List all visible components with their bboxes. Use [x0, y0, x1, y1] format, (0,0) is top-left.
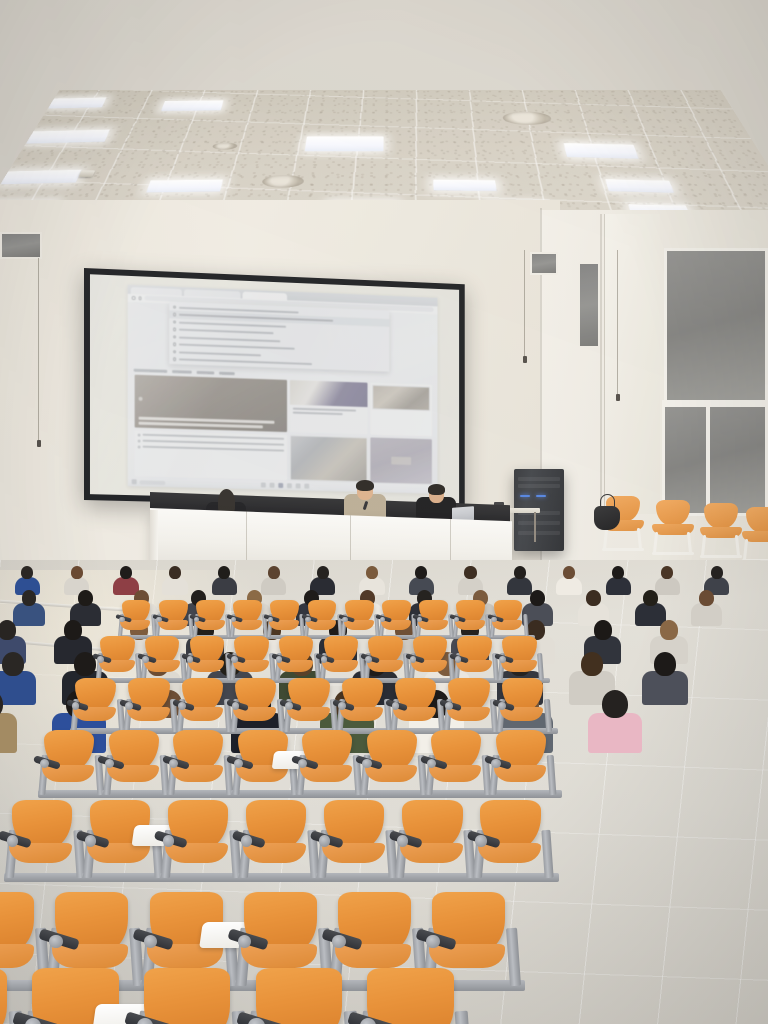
audience-person	[212, 566, 238, 596]
lecture-seat[interactable]	[4, 800, 92, 888]
source-avatar-icon	[138, 397, 142, 401]
seat-pivot-hinge	[410, 656, 416, 662]
app-icon[interactable]	[261, 483, 266, 488]
seat-pivot-hinge	[7, 835, 18, 846]
light-panel-3	[1, 170, 82, 185]
seat-cushion[interactable]	[456, 660, 492, 672]
seat-cushion[interactable]	[322, 660, 358, 672]
seat-cushion[interactable]	[344, 620, 374, 630]
wall-pillar	[604, 214, 660, 514]
stack-chair-leg	[637, 528, 642, 550]
light-panel-13	[563, 143, 638, 159]
seat-pivot-hinge	[305, 617, 310, 622]
audience-head	[581, 652, 603, 676]
light-panel-11	[433, 179, 497, 191]
rack-status-led	[520, 495, 530, 497]
audience-head	[514, 566, 526, 579]
stack-chair-foot-rail	[652, 552, 694, 555]
audience-torso	[212, 577, 237, 596]
taskbar-search-field[interactable]	[140, 480, 166, 485]
bag-strap	[600, 494, 615, 508]
seat-pivot-hinge	[445, 702, 453, 710]
seat-cushion[interactable]	[429, 765, 481, 782]
seat-cushion[interactable]	[165, 843, 228, 863]
light-panel-8	[305, 136, 384, 151]
audience-head	[711, 566, 723, 579]
video-caption	[290, 405, 367, 419]
audience-head	[563, 566, 575, 579]
projector-cable	[38, 258, 39, 444]
acoustic-panel-right-tall	[578, 262, 600, 348]
projector-cable-2	[617, 250, 618, 398]
seat-cushion[interactable]	[9, 843, 72, 863]
stack-chair-2	[652, 500, 698, 554]
reload-icon[interactable]	[138, 296, 141, 300]
video-article-card[interactable]	[290, 380, 367, 435]
projector-cable-3	[524, 250, 525, 360]
app-icon[interactable]	[295, 484, 300, 489]
lecture-seat[interactable]	[473, 800, 561, 888]
seat-pivot-hinge	[397, 835, 408, 846]
app-icon[interactable]	[269, 483, 274, 488]
seat-cushion[interactable]	[158, 620, 188, 630]
seat-support-post	[455, 1011, 472, 1024]
hero-article-card[interactable]	[134, 375, 287, 432]
seat-cushion[interactable]	[494, 765, 546, 782]
seat-cushion[interactable]	[241, 944, 317, 968]
seat-backrest[interactable]	[0, 968, 7, 1024]
lecture-seat[interactable]	[22, 968, 144, 1024]
audience-head	[415, 566, 427, 579]
seat-support-post	[542, 830, 554, 878]
seat-cushion[interactable]	[335, 944, 411, 968]
seat-pivot-hinge	[338, 702, 346, 710]
seat-backrest[interactable]	[256, 968, 342, 1024]
seat-cushion[interactable]	[277, 660, 313, 672]
seat-pivot-hinge	[49, 935, 63, 949]
seat-support-post	[544, 698, 552, 731]
seat-pivot-hinge	[499, 656, 505, 662]
audience-head	[602, 690, 628, 718]
seat-cushion[interactable]	[455, 620, 485, 630]
audience-head	[0, 620, 16, 640]
seat-cushion[interactable]	[306, 620, 336, 630]
seat-pivot-hinge	[319, 835, 330, 846]
seat-pivot-hinge	[231, 656, 237, 662]
audience-head	[464, 566, 476, 579]
card-thumbnail-image	[372, 385, 429, 412]
audience-person	[0, 690, 19, 754]
seat-pivot-hinge	[365, 656, 371, 662]
audience-head	[660, 620, 678, 640]
seat-pivot-hinge	[455, 656, 461, 662]
lecture-seat[interactable]	[395, 800, 483, 888]
rack-slot	[518, 531, 560, 535]
start-icon[interactable]	[132, 479, 137, 484]
rack-status-led	[536, 495, 546, 497]
lecture-seat[interactable]	[231, 730, 305, 803]
seat-pivot-hinge	[498, 702, 506, 710]
seat-cushion[interactable]	[144, 660, 180, 672]
seat-cushion[interactable]	[381, 620, 411, 630]
audience-head	[78, 590, 93, 606]
lecture-seat[interactable]	[489, 730, 563, 803]
audience-person	[642, 652, 690, 706]
seat-cushion[interactable]	[365, 765, 417, 782]
light-panel-14	[605, 179, 674, 193]
seat-pivot-hinge	[187, 656, 193, 662]
seat-cushion[interactable]	[195, 620, 225, 630]
seat-backrest[interactable]	[144, 968, 230, 1024]
audience-head	[594, 620, 612, 640]
seat-pivot-hinge	[342, 617, 347, 622]
seat-pivot-hinge	[248, 1018, 264, 1024]
thumbnail-card[interactable]	[370, 383, 431, 437]
audience-person	[691, 590, 724, 627]
stack-chair-4	[742, 507, 768, 561]
stack-chair-foot-rail	[700, 555, 742, 558]
audience-head	[268, 566, 280, 579]
glass-mullion-horizontal	[662, 400, 768, 404]
stack-chair-leg	[687, 532, 692, 554]
seat-pivot-hinge	[491, 617, 496, 622]
black-bag	[594, 506, 620, 530]
search-icon	[173, 350, 176, 354]
seat-pivot-hinge	[97, 656, 103, 662]
toolbar-item[interactable]	[219, 372, 235, 375]
news-feed-grid	[134, 375, 431, 485]
seat-support-post	[523, 614, 529, 637]
seat-pivot-hinge	[125, 702, 133, 710]
toolbar-item[interactable]	[134, 369, 168, 373]
glass-partition-upper	[664, 248, 768, 406]
audience-head	[218, 566, 230, 579]
stack-chair-back	[656, 500, 690, 526]
light-panel-5	[161, 100, 224, 111]
audience-head	[612, 566, 624, 579]
list-bullet-icon	[137, 445, 140, 448]
search-icon	[173, 320, 176, 324]
wide-media-card[interactable]	[370, 437, 431, 484]
audience-head	[366, 566, 378, 579]
seat-cushion[interactable]	[0, 944, 34, 968]
audience-head	[2, 652, 24, 676]
seat-pivot-hinge	[475, 835, 486, 846]
seat-cushion[interactable]	[188, 660, 224, 672]
stack-chair-leg	[603, 528, 608, 550]
stack-chair-foot-rail	[602, 548, 644, 551]
seat-backrest[interactable]	[367, 968, 453, 1024]
seat-pivot-hinge	[232, 702, 240, 710]
audience-torso	[0, 713, 17, 753]
audience-head	[643, 590, 658, 606]
seat-cushion[interactable]	[418, 620, 448, 630]
seat-cushion[interactable]	[120, 620, 150, 630]
seat-cushion[interactable]	[300, 765, 352, 782]
app-icon[interactable]	[287, 483, 292, 488]
light-panel-6	[146, 179, 223, 192]
seat-cushion[interactable]	[107, 765, 159, 782]
audience-head	[169, 566, 181, 579]
lecture-seat[interactable]	[425, 730, 499, 803]
stack-chair-3	[700, 503, 746, 557]
seat-support-post	[546, 755, 556, 795]
projection-screen	[84, 268, 465, 509]
lecture-seat[interactable]	[133, 968, 255, 1024]
seat-cushion[interactable]	[99, 660, 135, 672]
seat-pivot-hinge	[142, 656, 148, 662]
seat-cushion[interactable]	[429, 944, 505, 968]
seat-pivot-hinge	[241, 835, 252, 846]
seat-cushion[interactable]	[269, 620, 299, 630]
seat-pivot-hinge	[276, 656, 282, 662]
lecture-seat[interactable]	[167, 730, 241, 803]
list-item[interactable]	[137, 445, 284, 452]
audience-head	[586, 590, 601, 606]
seat-cushion[interactable]	[322, 843, 385, 863]
taskbar-start-area[interactable]	[132, 479, 166, 485]
stack-chair-back	[704, 503, 738, 529]
lecture-seat[interactable]	[238, 800, 326, 888]
lecture-seat[interactable]	[360, 730, 434, 803]
toolbar-item[interactable]	[197, 371, 215, 374]
seat-cushion[interactable]	[501, 660, 537, 672]
audience-head	[64, 620, 82, 640]
presenter-hair	[428, 484, 445, 495]
seat-pivot-hinge	[426, 935, 440, 949]
seat-cushion[interactable]	[411, 660, 447, 672]
stack-chair-leg	[735, 535, 740, 557]
projection-surface	[90, 274, 459, 503]
cable-end-weight	[37, 440, 41, 447]
seat-cushion[interactable]	[243, 843, 306, 863]
audience-head	[120, 566, 132, 579]
text-list-card[interactable]	[134, 430, 287, 480]
seat-pivot-hinge	[85, 835, 96, 846]
lecture-seat[interactable]	[82, 800, 170, 888]
lecture-seat[interactable]	[296, 730, 370, 803]
seat-pivot-hinge	[163, 835, 174, 846]
search-icon	[173, 343, 176, 347]
search-icon	[173, 328, 176, 332]
stack-chair-1	[602, 496, 648, 550]
acoustic-panel-left	[0, 232, 42, 259]
search-icon	[173, 357, 176, 361]
seat-cushion[interactable]	[367, 660, 403, 672]
lecture-seat[interactable]	[245, 968, 367, 1024]
seat-cushion[interactable]	[478, 843, 541, 863]
rack-slot	[518, 484, 560, 488]
seat-pivot-hinge	[156, 617, 161, 622]
facebook-icon[interactable]	[278, 483, 283, 488]
audience-head	[654, 652, 676, 676]
glass-mullion-vertical	[706, 400, 710, 518]
light-panel-1	[48, 97, 107, 108]
seat-pivot-hinge	[332, 935, 346, 949]
lecture-seat[interactable]	[316, 800, 404, 888]
seat-support-post	[506, 928, 521, 986]
seat-cushion[interactable]	[400, 843, 463, 863]
table-leg	[534, 512, 536, 542]
seat-cushion[interactable]	[52, 944, 128, 968]
cable-end-weight-3	[523, 356, 527, 363]
lecture-hall-photo	[0, 0, 768, 1024]
article-headline	[138, 417, 283, 429]
audience-torso	[691, 603, 722, 626]
stack-chair-leg	[701, 535, 706, 557]
toolbar-item[interactable]	[172, 370, 192, 373]
cable-end-weight-2	[616, 394, 620, 401]
stack-chair-leg	[743, 539, 748, 561]
acoustic-panel-right-upper	[530, 252, 558, 275]
search-icon	[173, 313, 176, 317]
seat-cushion[interactable]	[233, 660, 269, 672]
lecture-seat[interactable]	[356, 968, 478, 1024]
desk-left-return	[150, 510, 158, 564]
lecture-seat[interactable]	[160, 800, 248, 888]
seat-cushion[interactable]	[171, 765, 223, 782]
rack-slot	[518, 477, 560, 481]
seat-pivot-hinge	[321, 656, 327, 662]
seat-pivot-hinge	[119, 617, 124, 622]
light-panel-2	[26, 129, 110, 143]
rack-slot	[518, 521, 560, 525]
article-source	[138, 397, 144, 401]
lecture-seat[interactable]	[38, 730, 112, 803]
stack-chair-back	[746, 507, 768, 533]
stack-chair-leg	[653, 532, 658, 554]
audience-torso	[642, 671, 688, 705]
suggestion-text	[179, 358, 311, 365]
back-arrow-icon[interactable]	[132, 296, 135, 300]
lecture-seat[interactable]	[102, 730, 176, 803]
seat-cushion[interactable]	[42, 765, 94, 782]
seat-pivot-hinge	[178, 702, 186, 710]
wall-seam-2	[600, 214, 602, 514]
projected-browser-window	[128, 285, 438, 494]
seat-pivot-hinge	[392, 702, 400, 710]
search-icon	[173, 335, 176, 339]
presenter-hair	[356, 480, 374, 491]
audience-head	[317, 566, 329, 579]
list-bullet-icon	[137, 434, 140, 437]
seat-cushion[interactable]	[232, 620, 262, 630]
audience-torso	[588, 713, 642, 753]
app-icon[interactable]	[304, 484, 309, 489]
audience-person	[588, 690, 645, 754]
list-text	[142, 446, 284, 452]
seat-cushion[interactable]	[492, 620, 522, 630]
search-icon	[173, 305, 176, 309]
audience-head	[71, 566, 83, 579]
video-thumbnail	[290, 380, 367, 408]
audience-head	[22, 590, 37, 606]
list-bullet-icon	[137, 439, 140, 442]
seat-support-post	[537, 653, 544, 681]
search-suggestions-dropdown[interactable]	[169, 302, 389, 371]
seat-pivot-hinge	[285, 702, 293, 710]
audience-head	[699, 590, 714, 606]
photo-card[interactable]	[290, 435, 367, 482]
